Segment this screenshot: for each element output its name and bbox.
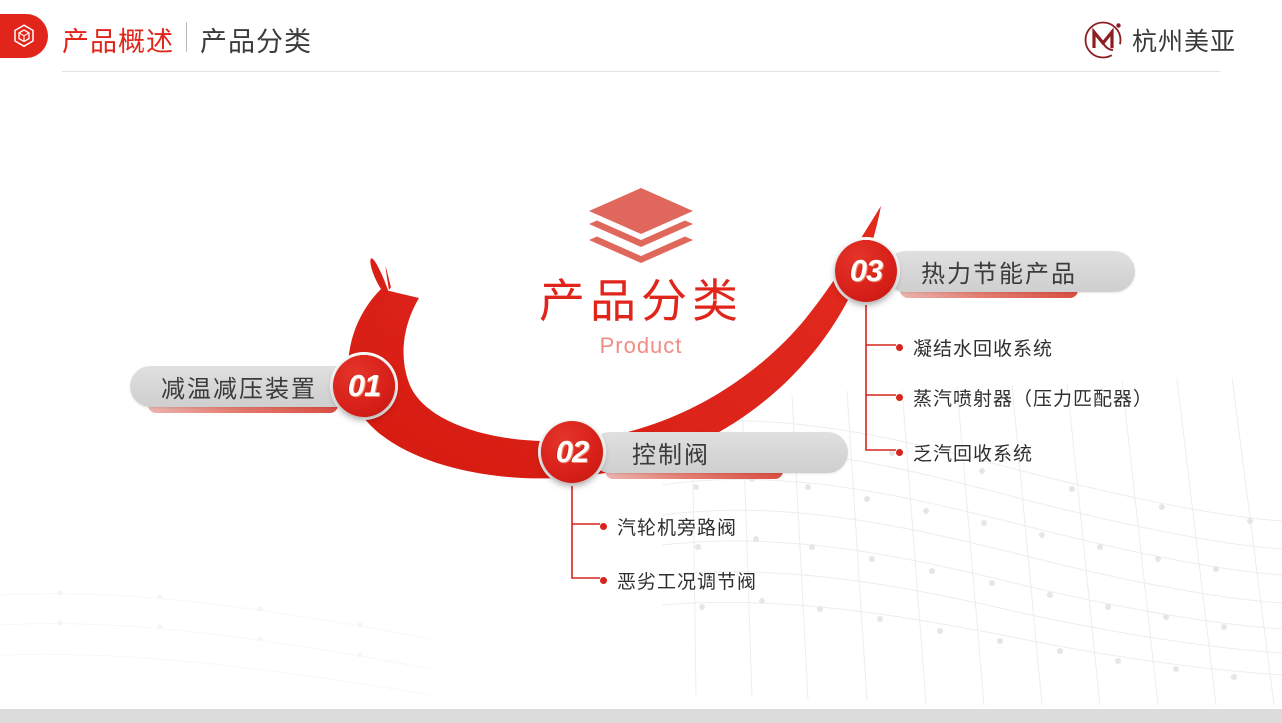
node-03-label: 热力节能产品 xyxy=(921,254,1077,289)
sub-item-02-1[interactable]: 恶劣工况调节阀 xyxy=(600,567,757,594)
bullet-dot-icon xyxy=(896,394,903,401)
sub-item-03-1-label: 蒸汽喷射器（压力匹配器） xyxy=(913,384,1153,411)
red-swoosh-arc xyxy=(0,0,1282,723)
circle-m-logo-icon xyxy=(1080,17,1126,63)
slide-header: 产品概述 产品分类 杭州美亚 xyxy=(0,0,1282,78)
bullet-dot-icon xyxy=(600,577,607,584)
background-mesh-decoration xyxy=(662,375,1282,705)
hexagon-cube-icon xyxy=(11,23,37,49)
slide-canvas: 产品概述 产品分类 杭州美亚 xyxy=(0,0,1282,723)
page-subtitle: 产品分类 xyxy=(200,20,312,59)
sub-item-03-2-label: 乏汽回收系统 xyxy=(913,439,1033,466)
header-divider xyxy=(186,22,187,52)
layers-stack-icon xyxy=(585,186,697,266)
center-subtitle: Product xyxy=(0,333,1282,359)
node-03-badge[interactable]: 03 xyxy=(835,240,897,302)
sub-item-02-0-label: 汽轮机旁路阀 xyxy=(617,513,737,540)
node-03-number: 03 xyxy=(850,253,882,289)
header-rule xyxy=(62,71,1220,72)
sub-item-03-0-label: 凝结水回收系统 xyxy=(913,334,1053,361)
background-mesh-left-decoration xyxy=(0,555,430,705)
bullet-dot-icon xyxy=(896,449,903,456)
node-02-label: 控制阀 xyxy=(632,435,710,470)
node-01-label: 减温减压装置 xyxy=(161,369,317,404)
node-01-badge[interactable]: 01 xyxy=(333,355,395,417)
connector-lines xyxy=(0,0,1282,723)
company-logo: 杭州美亚 xyxy=(1080,17,1236,63)
node-02-badge[interactable]: 02 xyxy=(541,421,603,483)
bullet-dot-icon xyxy=(896,344,903,351)
node-01-number: 01 xyxy=(348,368,380,404)
bullet-dot-icon xyxy=(600,523,607,530)
sub-item-03-0[interactable]: 凝结水回收系统 xyxy=(896,334,1053,361)
sub-item-03-1[interactable]: 蒸汽喷射器（压力匹配器） xyxy=(896,384,1153,411)
company-name: 杭州美亚 xyxy=(1132,22,1236,58)
sub-item-02-1-label: 恶劣工况调节阀 xyxy=(617,567,757,594)
sub-item-03-2[interactable]: 乏汽回收系统 xyxy=(896,439,1033,466)
bottom-bar xyxy=(0,709,1282,723)
node-02-pill[interactable]: 控制阀 xyxy=(590,432,848,473)
node-02-number: 02 xyxy=(556,434,588,470)
node-03-pill[interactable]: 热力节能产品 xyxy=(885,251,1135,292)
sub-item-02-0[interactable]: 汽轮机旁路阀 xyxy=(600,513,737,540)
page-title: 产品概述 xyxy=(62,20,174,59)
header-badge xyxy=(0,14,48,58)
